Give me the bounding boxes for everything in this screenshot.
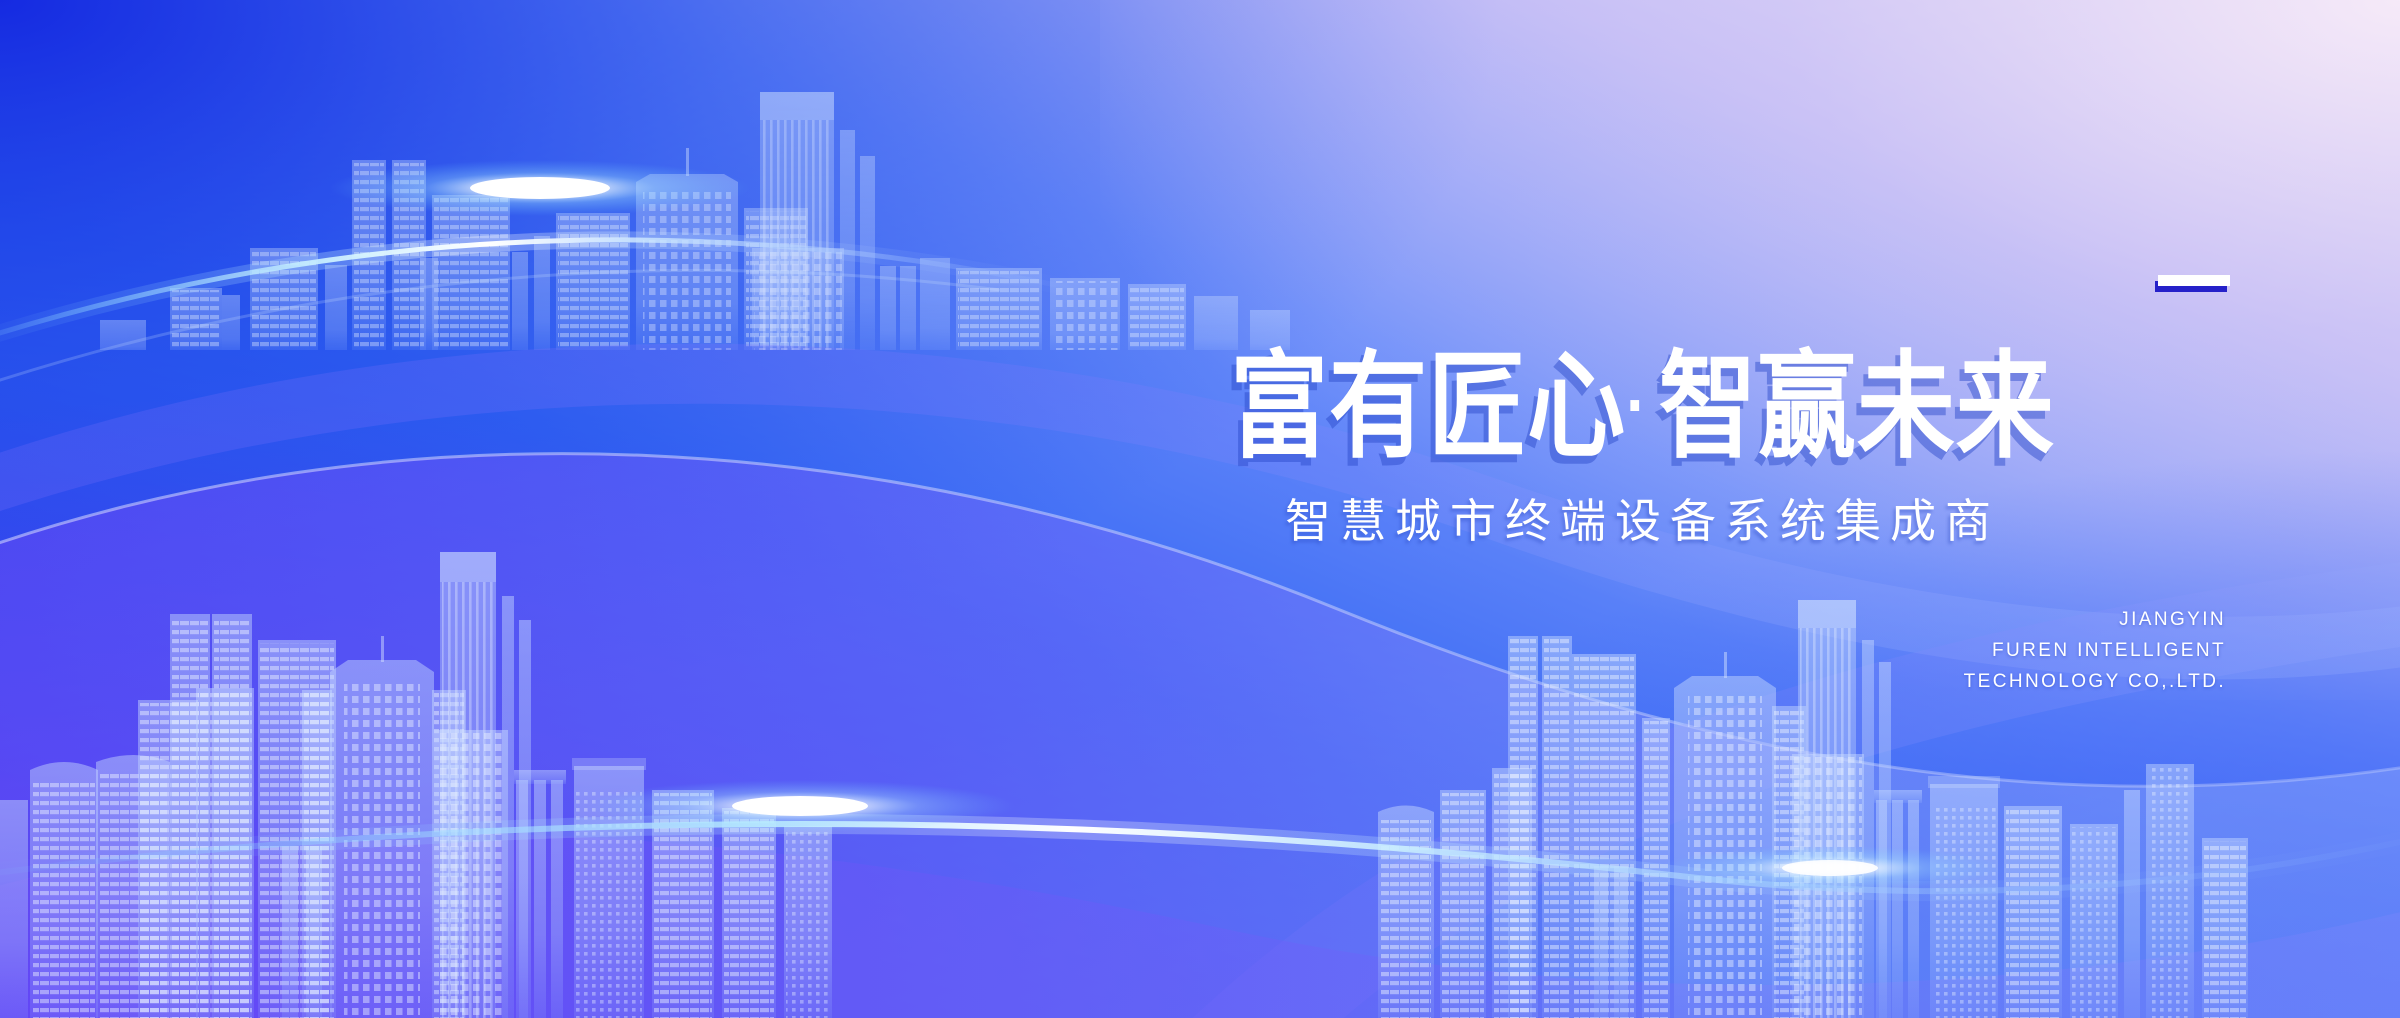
company-name-line-2: FUREN INTELLIGENT (1806, 636, 2226, 667)
company-name-block: JIANGYIN FUREN INTELLIGENT TECHNOLOGY CO… (1806, 605, 2226, 697)
company-name-line-1: JIANGYIN (1806, 605, 2226, 636)
company-name-line-3: TECHNOLOGY CO,.LTD. (1806, 667, 2226, 698)
headline-right: 智赢未来 (1659, 341, 2055, 471)
decorative-dash-icon (2158, 275, 2230, 286)
headline-separator-dot: · (1626, 365, 1659, 446)
headline-left: 富有匠心 (1230, 341, 1626, 471)
page-title: 富有匠心·智赢未来 (1060, 346, 2225, 467)
promotional-banner: 富有匠心·智赢未来 智慧城市终端设备系统集成商 JIANGYIN FUREN I… (0, 0, 2400, 1018)
page-subtitle: 智慧城市终端设备系统集成商 (1060, 485, 2225, 551)
